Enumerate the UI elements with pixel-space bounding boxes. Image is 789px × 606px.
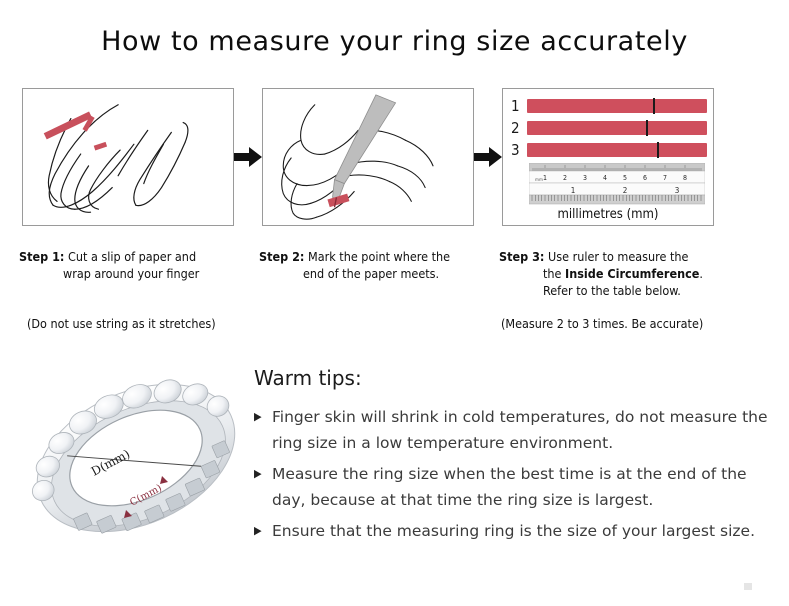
paper-strip-row: 3 <box>511 141 707 159</box>
step-3-illustration-panel: 1 2 3 <box>502 88 714 226</box>
tip-text: Ensure that the measuring ring is the si… <box>272 518 774 544</box>
step-3-text-line-1: Use ruler to measure the <box>548 249 688 264</box>
strip-tick-mark <box>653 98 655 114</box>
svg-text:1: 1 <box>543 174 547 182</box>
strip-tick-mark <box>657 142 659 158</box>
svg-text:6: 6 <box>643 174 647 182</box>
svg-text:8: 8 <box>683 174 687 182</box>
step-2-illustration-panel <box>262 88 474 226</box>
step-3-text-line-3: Refer to the table below. <box>499 282 744 299</box>
step-2-caption: Step 2: Mark the point where the end of … <box>259 248 504 282</box>
svg-text:mm: mm <box>535 178 543 183</box>
step-3-label: Step 3: <box>499 249 544 264</box>
tip-text: Finger skin will shrink in cold temperat… <box>272 404 774 456</box>
step-captions-row: Step 1: Cut a slip of paper and wrap aro… <box>0 248 789 338</box>
step-3-text-suffix: . <box>699 266 703 281</box>
svg-text:3: 3 <box>583 174 587 182</box>
step-2-caption-line-1: Step 2: Mark the point where the <box>259 248 504 265</box>
tip-list-item: ▶ Ensure that the measuring ring is the … <box>254 518 774 544</box>
svg-text:7: 7 <box>663 174 667 182</box>
warm-tips-section: Warm tips: ▶ Finger skin will shrink in … <box>254 366 774 549</box>
step-1-caption-line-1: Step 1: Cut a slip of paper and <box>19 248 264 265</box>
step-2-label: Step 2: <box>259 249 304 264</box>
step-3-text-prefix: the <box>543 266 565 281</box>
svg-text:4: 4 <box>603 174 607 182</box>
step-2-text-line-1: Mark the point where the <box>308 249 450 264</box>
step-3-caption-line-2: the Inside Circumference. <box>499 265 744 282</box>
ring-diagram: D(mm) C(mm) <box>22 358 250 554</box>
step-1-note: (Do not use string as it stretches) <box>27 316 216 331</box>
svg-text:1: 1 <box>571 186 576 195</box>
step-1-caption: Step 1: Cut a slip of paper and wrap aro… <box>19 248 264 282</box>
tip-text: Measure the ring size when the best time… <box>272 461 774 513</box>
steps-illustration-row: 1 2 3 <box>0 88 789 238</box>
strip-bar <box>527 99 707 113</box>
paper-strips-group: 1 2 3 <box>503 89 713 225</box>
page-title: How to measure your ring size accurately <box>0 26 789 57</box>
strip-bar <box>527 143 707 157</box>
step-1-text-line-2: wrap around your finger <box>19 265 264 282</box>
strip-number: 3 <box>511 141 527 159</box>
hand-marking-paper-with-pen-icon <box>263 89 473 225</box>
svg-text:2: 2 <box>563 174 567 182</box>
strip-number: 2 <box>511 119 527 137</box>
step-1-illustration-panel <box>22 88 234 226</box>
tip-list-item: ▶ Finger skin will shrink in cold temper… <box>254 404 774 456</box>
svg-text:2: 2 <box>623 186 628 195</box>
svg-text:5: 5 <box>623 174 627 182</box>
tip-list-item: ▶ Measure the ring size when the best ti… <box>254 461 774 513</box>
arrow-right-icon <box>234 145 262 169</box>
ruler-icon: 123 456 78 mm 123 <box>529 163 705 205</box>
ruler-caption: millimetres (mm) <box>503 207 713 222</box>
hand-with-paper-slip-icon <box>23 89 233 225</box>
ruler-illustration: 123 456 78 mm 123 <box>529 163 705 205</box>
paper-strip-row: 1 <box>511 97 707 115</box>
triangle-bullet-icon: ▶ <box>254 461 272 487</box>
step-1-text-line-1: Cut a slip of paper and <box>68 249 196 264</box>
triangle-bullet-icon: ▶ <box>254 404 272 430</box>
strip-bar <box>527 121 707 135</box>
triangle-bullet-icon: ▶ <box>254 518 272 544</box>
step-1-label: Step 1: <box>19 249 64 264</box>
step-2-text-line-2: end of the paper meets. <box>259 265 504 282</box>
strip-number: 1 <box>511 97 527 115</box>
step-3-note: (Measure 2 to 3 times. Be accurate) <box>501 316 703 331</box>
inside-circumference-term: Inside Circumference <box>565 266 699 281</box>
faint-corner-artifact <box>744 583 752 590</box>
warm-tips-heading: Warm tips: <box>254 366 774 390</box>
arrow-right-icon <box>474 145 502 169</box>
paper-strip-row: 2 <box>511 119 707 137</box>
svg-text:3: 3 <box>675 186 680 195</box>
ring-photo-icon: D(mm) C(mm) <box>22 358 250 554</box>
step-3-caption-line-1: Step 3: Use ruler to measure the <box>499 248 744 265</box>
step-3-caption: Step 3: Use ruler to measure the the Ins… <box>499 248 744 299</box>
strip-tick-mark <box>646 120 648 136</box>
